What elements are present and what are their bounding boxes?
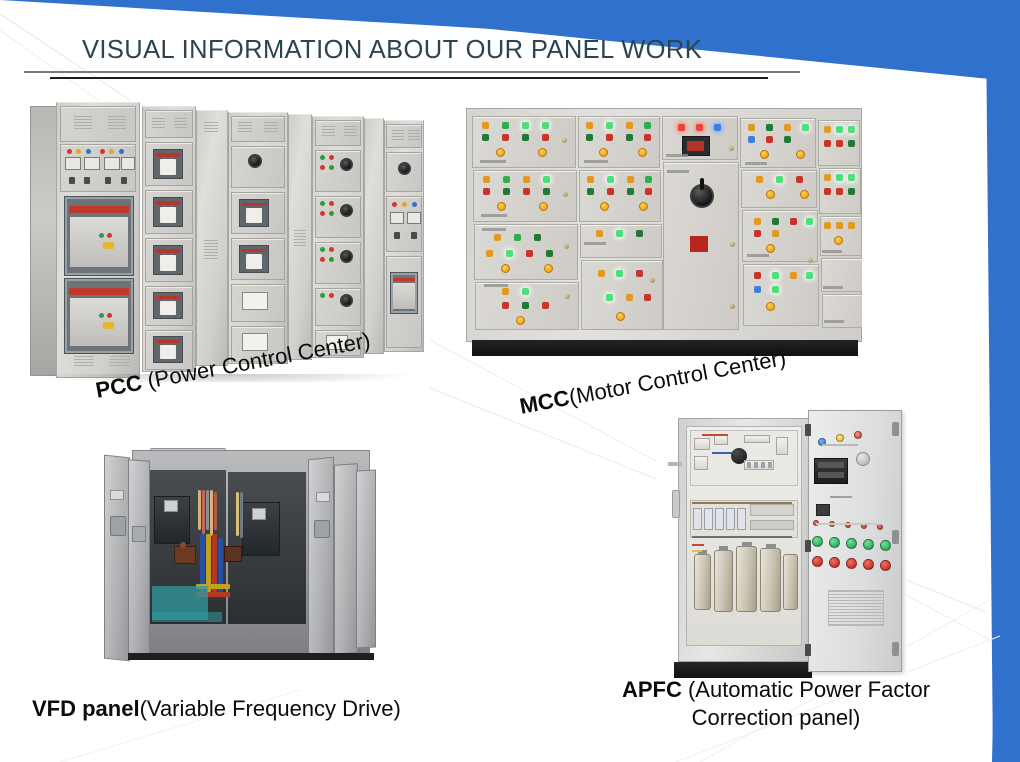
caption-apfc: APFC (Automatic Power Factor Correction … bbox=[570, 676, 982, 732]
title-block: VISUAL INFORMATION ABOUT OUR PANEL WORK bbox=[0, 0, 1020, 92]
caption-apfc-abbr: APFC bbox=[622, 677, 682, 702]
title-rule-inner bbox=[50, 77, 768, 79]
photo-apfc-panel bbox=[656, 404, 906, 680]
caption-vfd: VFD panel(Variable Frequency Drive) bbox=[32, 696, 401, 722]
caption-vfd-abbr: VFD panel bbox=[32, 696, 140, 721]
caption-vfd-expansion: (Variable Frequency Drive) bbox=[140, 696, 401, 721]
caption-apfc-line1: APFC (Automatic Power Factor bbox=[570, 676, 982, 704]
caption-apfc-expansion-part1: (Automatic Power Factor bbox=[682, 677, 930, 702]
photo-mcc-panel bbox=[466, 108, 862, 358]
photo-vfd-panel bbox=[88, 434, 414, 680]
caption-apfc-line2: Correction panel) bbox=[570, 704, 982, 732]
page-title: VISUAL INFORMATION ABOUT OUR PANEL WORK bbox=[82, 36, 702, 65]
title-rule-outer bbox=[24, 71, 800, 73]
slide-canvas: VISUAL INFORMATION ABOUT OUR PANEL WORK bbox=[0, 0, 1020, 762]
caption-mcc-abbr: MCC bbox=[518, 385, 572, 419]
